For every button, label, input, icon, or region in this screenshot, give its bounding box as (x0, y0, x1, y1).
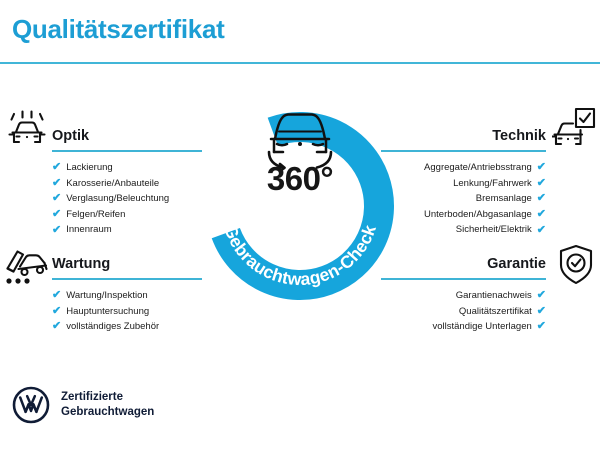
car-service-pen-icon (4, 245, 50, 294)
section-title-garantie: Garantie (381, 254, 546, 274)
car-front-shine-icon (6, 108, 50, 157)
vw-logo (12, 386, 50, 424)
check-icon: ✔ (537, 162, 546, 173)
section-divider-garantie (381, 278, 546, 280)
list-item: ✔Innenraum (52, 222, 202, 238)
list-item-label: Garantienachweis (456, 288, 532, 304)
list-item: ✔Lackierung (52, 160, 202, 176)
badge-360-gebrauchtwagen-check: Gebrauchtwagen-Check 360° (198, 98, 402, 308)
check-icon: ✔ (52, 321, 61, 332)
shield-check-icon (556, 243, 596, 292)
check-icon: ✔ (52, 162, 61, 173)
check-icon: ✔ (537, 209, 546, 220)
section-header-technik: Technik (381, 126, 546, 152)
list-item: Unterboden/Abgasanlage✔ (381, 207, 546, 223)
list-item: Aggregate/Antriebsstrang✔ (381, 160, 546, 176)
section-garantie: Garantie Garantienachweis✔ Qualitätszert… (381, 254, 546, 335)
title-divider (0, 62, 600, 64)
section-header-optik: Optik (52, 126, 202, 152)
list-item: ✔Karosserie/Anbauteile (52, 176, 202, 192)
list-item: ✔Wartung/Inspektion (52, 288, 202, 304)
list-item-label: Sicherheit/Elektrik (456, 222, 532, 238)
page-title: Qualitätszertifikat (12, 14, 224, 45)
list-item: vollständige Unterlagen✔ (381, 319, 546, 335)
list-item-label: Bremsanlage (476, 191, 532, 207)
list-item-label: Karosserie/Anbauteile (66, 176, 159, 192)
section-divider-optik (52, 150, 202, 152)
section-header-wartung: Wartung (52, 254, 202, 280)
section-technik: Technik Aggregate/Antriebsstrang✔ Lenkun… (381, 126, 546, 238)
list-item-label: vollständiges Zubehör (66, 319, 159, 335)
list-item-label: Unterboden/Abgasanlage (424, 207, 532, 223)
list-item-label: Qualitätszertifikat (459, 304, 532, 320)
check-icon: ✔ (537, 321, 546, 332)
list-item: ✔Hauptuntersuchung (52, 304, 202, 320)
check-icon: ✔ (537, 178, 546, 189)
list-item: Sicherheit/Elektrik✔ (381, 222, 546, 238)
list-item-label: vollständige Unterlagen (432, 319, 531, 335)
check-icon: ✔ (52, 193, 61, 204)
checklist-technik: Aggregate/Antriebsstrang✔ Lenkung/Fahrwe… (381, 160, 546, 238)
list-item-label: Wartung/Inspektion (66, 288, 148, 304)
section-divider-wartung (52, 278, 202, 280)
list-item: Qualitätszertifikat✔ (381, 304, 546, 320)
badge-degrees-label: 360° (198, 160, 402, 198)
list-item-label: Lackierung (66, 160, 112, 176)
footer-brand-label: Zertifizierte Gebrauchtwagen (61, 390, 154, 420)
checklist-optik: ✔Lackierung ✔Karosserie/Anbauteile ✔Verg… (52, 160, 202, 238)
list-item-label: Hauptuntersuchung (66, 304, 149, 320)
list-item-label: Lenkung/Fahrwerk (453, 176, 532, 192)
check-icon: ✔ (52, 306, 61, 317)
list-item: Bremsanlage✔ (381, 191, 546, 207)
section-title-technik: Technik (381, 126, 546, 146)
check-icon: ✔ (537, 306, 546, 317)
section-wartung: Wartung ✔Wartung/Inspektion ✔Hauptunters… (52, 254, 202, 335)
check-icon: ✔ (52, 290, 61, 301)
list-item: ✔Verglasung/Beleuchtung (52, 191, 202, 207)
checklist-wartung: ✔Wartung/Inspektion ✔Hauptuntersuchung ✔… (52, 288, 202, 335)
check-icon: ✔ (52, 178, 61, 189)
check-icon: ✔ (537, 193, 546, 204)
list-item-label: Aggregate/Antriebsstrang (424, 160, 532, 176)
list-item: Lenkung/Fahrwerk✔ (381, 176, 546, 192)
car-front-checkbox-icon (552, 106, 598, 159)
check-icon: ✔ (537, 225, 546, 236)
section-title-optik: Optik (52, 126, 202, 146)
section-header-garantie: Garantie (381, 254, 546, 280)
check-icon: ✔ (52, 209, 61, 220)
list-item-label: Felgen/Reifen (66, 207, 125, 223)
check-icon: ✔ (52, 225, 61, 236)
check-icon: ✔ (537, 290, 546, 301)
list-item: ✔vollständiges Zubehör (52, 319, 202, 335)
list-item: Garantienachweis✔ (381, 288, 546, 304)
footer-brand: Zertifizierte Gebrauchtwagen (12, 386, 154, 424)
list-item: ✔Felgen/Reifen (52, 207, 202, 223)
list-item-label: Verglasung/Beleuchtung (66, 191, 169, 207)
section-optik: Optik ✔Lackierung ✔Karosserie/Anbauteile… (52, 126, 202, 238)
checklist-garantie: Garantienachweis✔ Qualitätszertifikat✔ v… (381, 288, 546, 335)
section-divider-technik (381, 150, 546, 152)
list-item-label: Innenraum (66, 222, 111, 238)
section-title-wartung: Wartung (52, 254, 202, 274)
